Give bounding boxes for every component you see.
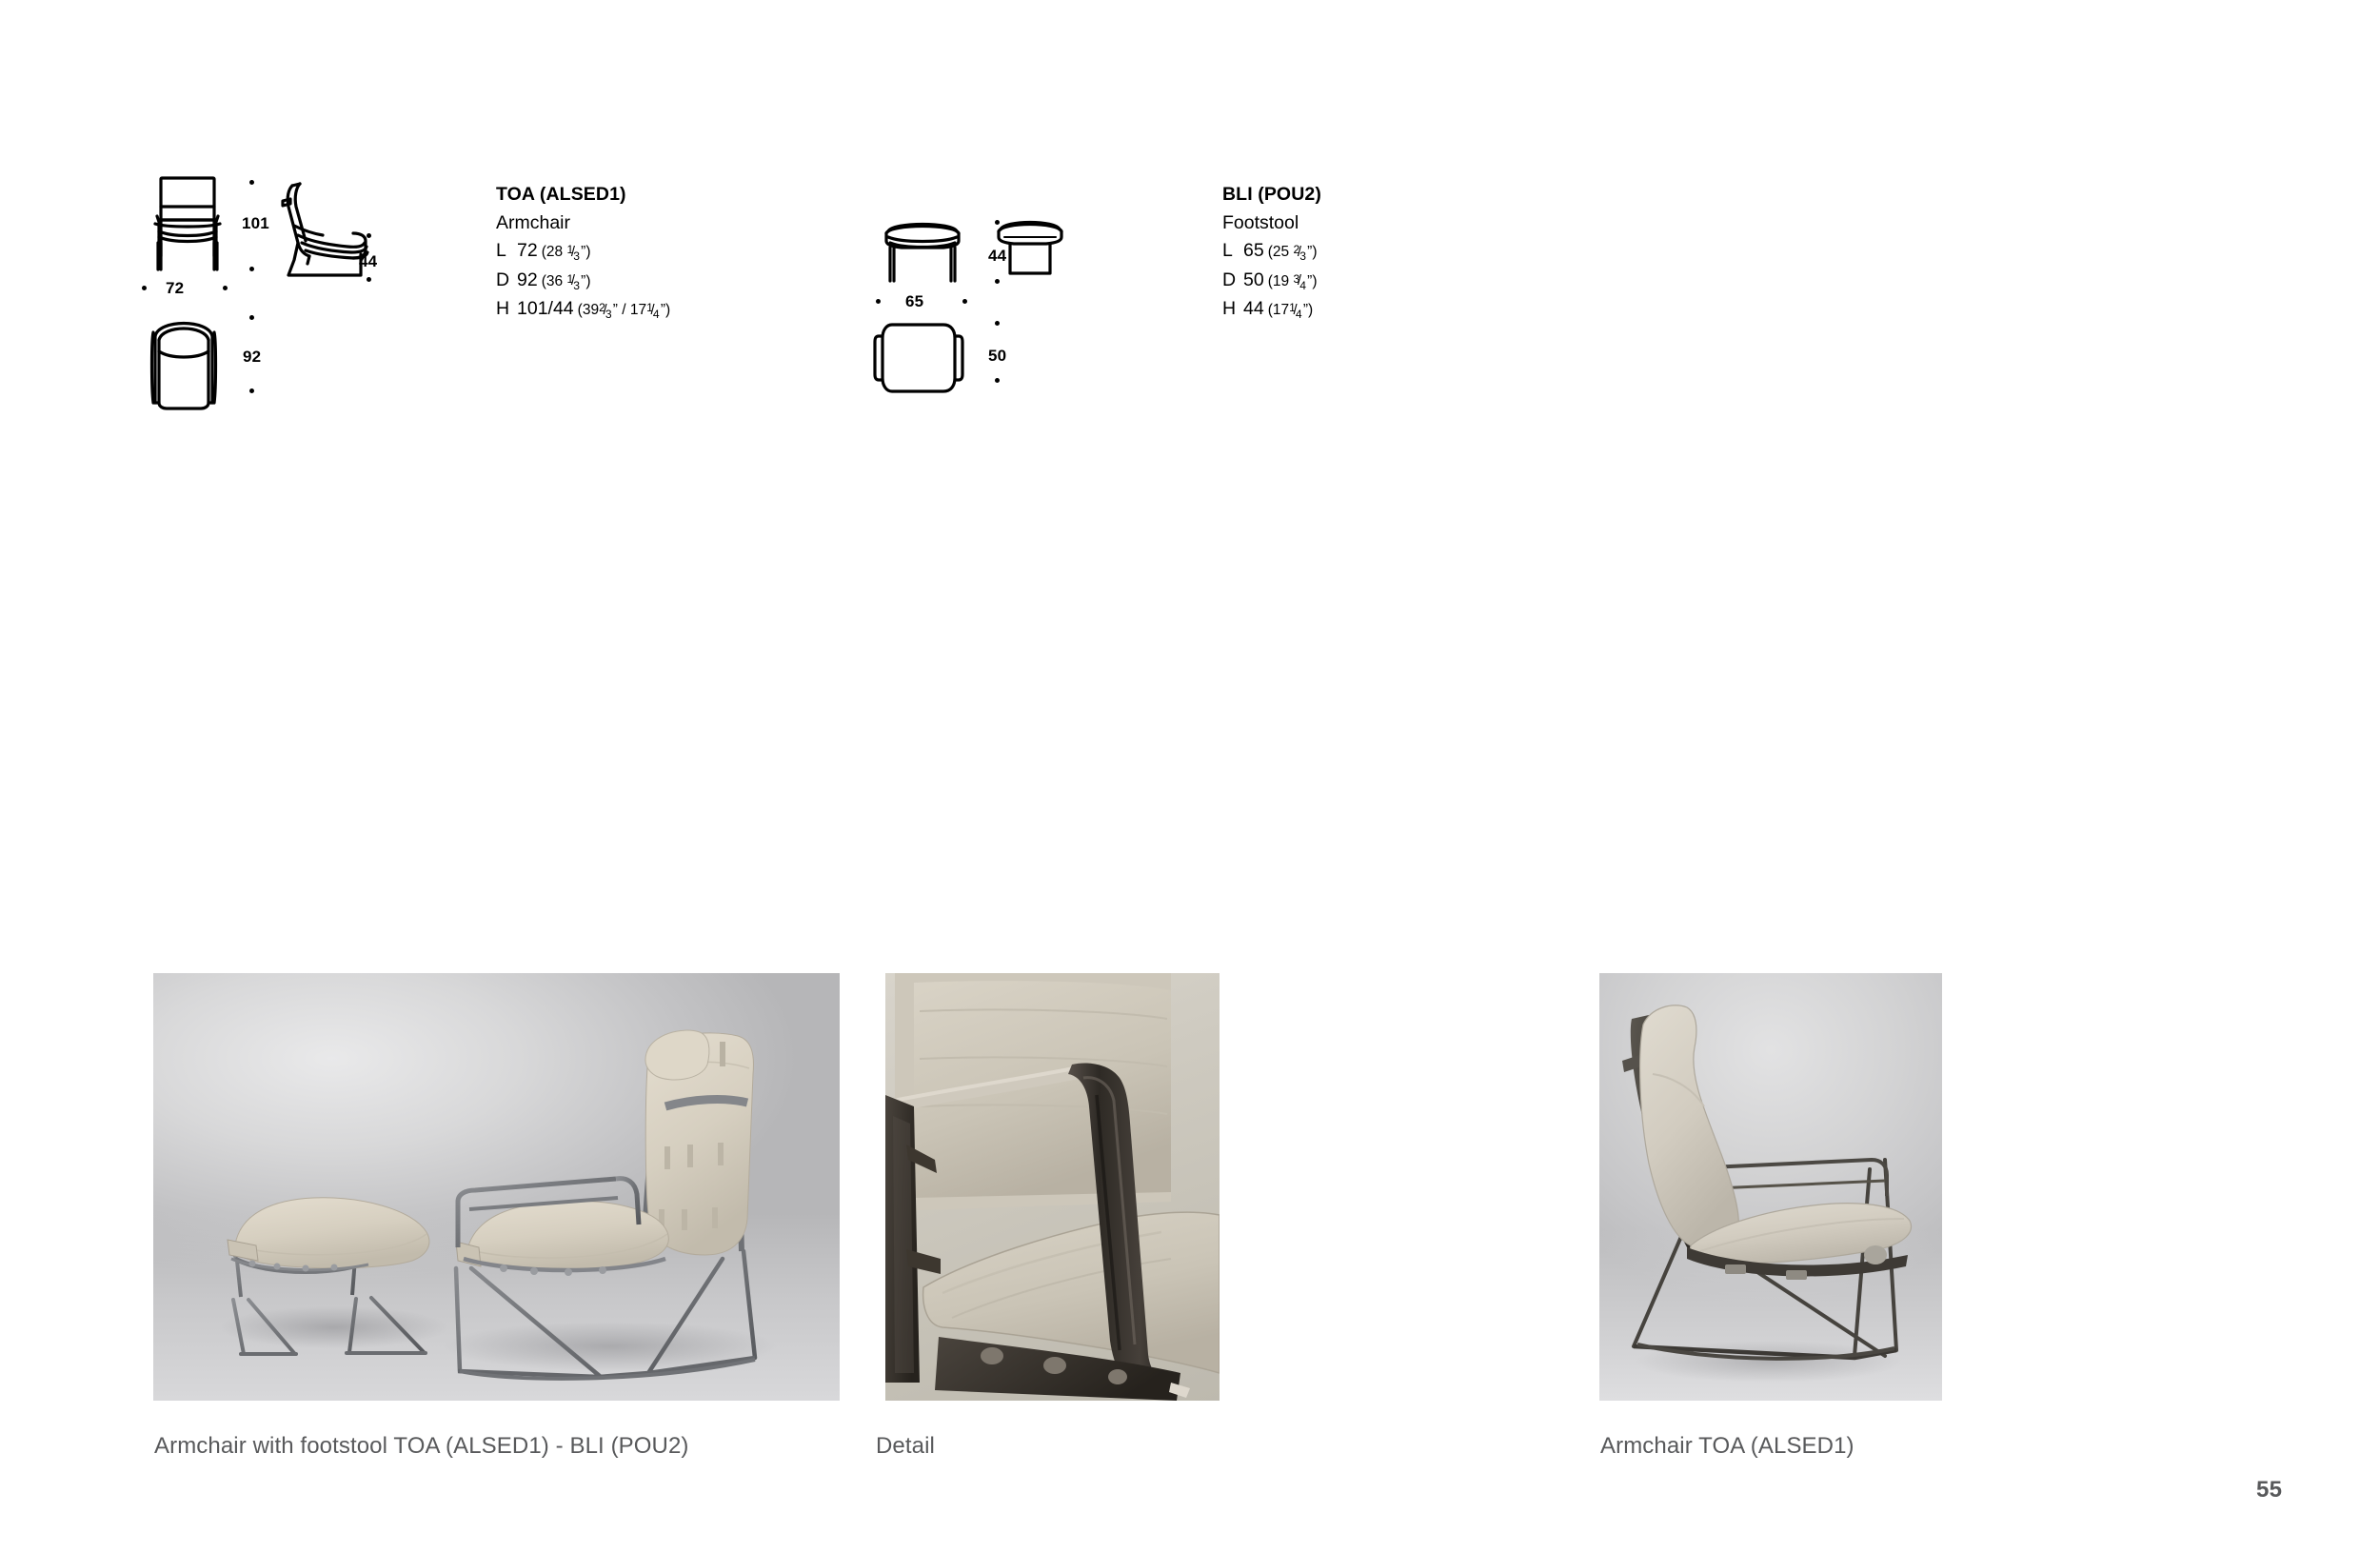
spec-value-l: 72 [512, 237, 538, 266]
spec-row-bli-depth: D50(19 3/4”) [1222, 267, 1321, 296]
spec-key-bli-l: L [1222, 237, 1239, 266]
dim-label-bli-depth-50: 50 [988, 347, 1006, 366]
dim-dot-left-bli-65 [876, 299, 881, 304]
spec-imperial-bli-h: (171/4”) [1264, 302, 1313, 318]
photo-2-detail-illustration [885, 973, 1220, 1401]
spec-imperial-bli-d: (19 3/4”) [1264, 273, 1318, 289]
dim-label-bli-width-65: 65 [905, 292, 923, 311]
product-photo-armchair-side [1599, 973, 1942, 1401]
dim-dot-right-bli-65 [962, 299, 967, 304]
spec-row-toa-length: L72(28 1/3”) [496, 237, 670, 267]
photo-1-furniture-illustration [153, 973, 840, 1401]
bli-side-elevation-drawing [993, 214, 1079, 290]
spec-imperial-d: (36 1/3”) [538, 273, 591, 289]
dim-dot-right-72 [223, 286, 228, 290]
photo-3-content [1599, 973, 1942, 1401]
caption-photo-3: Armchair TOA (ALSED1) [1600, 1433, 1854, 1460]
spec-text-toa: TOA (ALSED1) Armchair L72(28 1/3”) D92(3… [496, 181, 670, 325]
spec-imperial-bli-l: (25 2/3”) [1264, 244, 1318, 260]
dim-label-depth-92: 92 [243, 348, 261, 367]
spec-value-h: 101/44 [512, 295, 574, 324]
catalog-page: 101 72 44 [0, 0, 2380, 1553]
photo-3-furniture-illustration [1599, 973, 1942, 1401]
spec-row-toa-height: H101/44(392/3” / 171/4”) [496, 295, 670, 325]
spec-key-d: D [496, 267, 512, 295]
spec-key-bli-d: D [1222, 267, 1239, 295]
bli-front-elevation-drawing [881, 216, 985, 302]
dim-label-height-101: 101 [242, 214, 269, 233]
dim-dot-top-101 [249, 180, 254, 185]
spec-title-bli: BLI (POU2) [1222, 181, 1321, 209]
photo-2-content [885, 973, 1220, 1401]
spec-imperial-h: (392/3” / 171/4”) [574, 302, 671, 318]
dim-dot-left-72 [142, 286, 147, 290]
spec-value-bli-l: 65 [1239, 237, 1264, 266]
dim-dot-bottom-44 [367, 277, 371, 282]
dim-dot-top-44 [367, 233, 371, 238]
spec-key-h: H [496, 295, 512, 324]
dim-label-width-72: 72 [166, 279, 184, 298]
dim-dot-bottom-101 [249, 267, 254, 271]
dim-dot-top-bli-50 [995, 321, 1000, 326]
product-photo-armchair-with-footstool [153, 973, 840, 1401]
page-number: 55 [2256, 1477, 2282, 1503]
toa-front-elevation-drawing [148, 174, 243, 298]
spec-value-d: 92 [512, 267, 538, 295]
photo-1-content [153, 973, 840, 1401]
spec-value-bli-h: 44 [1239, 295, 1264, 324]
spec-text-bli: BLI (POU2) Footstool L65(25 2/3”) D50(19… [1222, 181, 1321, 325]
spec-imperial-l: (28 1/3”) [538, 244, 591, 260]
spec-row-bli-length: L65(25 2/3”) [1222, 237, 1321, 267]
spec-key-bli-h: H [1222, 295, 1239, 324]
spec-row-bli-height: H44(171/4”) [1222, 295, 1321, 325]
spec-title-toa: TOA (ALSED1) [496, 181, 670, 209]
toa-plan-view-drawing [146, 311, 250, 416]
caption-photo-1: Armchair with footstool TOA (ALSED1) - B… [154, 1433, 689, 1460]
dim-dot-bottom-92 [249, 388, 254, 393]
dim-dot-bottom-bli-50 [995, 378, 1000, 383]
product-photo-detail [885, 973, 1220, 1401]
caption-photo-2: Detail [876, 1433, 935, 1460]
spec-subtitle-bli: Footstool [1222, 209, 1321, 238]
spec-row-toa-depth: D92(36 1/3”) [496, 267, 670, 296]
spec-subtitle-toa: Armchair [496, 209, 670, 238]
spec-key-l: L [496, 237, 512, 266]
dim-label-seat-height-44: 44 [359, 252, 377, 271]
spec-value-bli-d: 50 [1239, 267, 1264, 295]
bli-plan-view-drawing [881, 319, 985, 414]
dim-dot-top-92 [249, 315, 254, 320]
